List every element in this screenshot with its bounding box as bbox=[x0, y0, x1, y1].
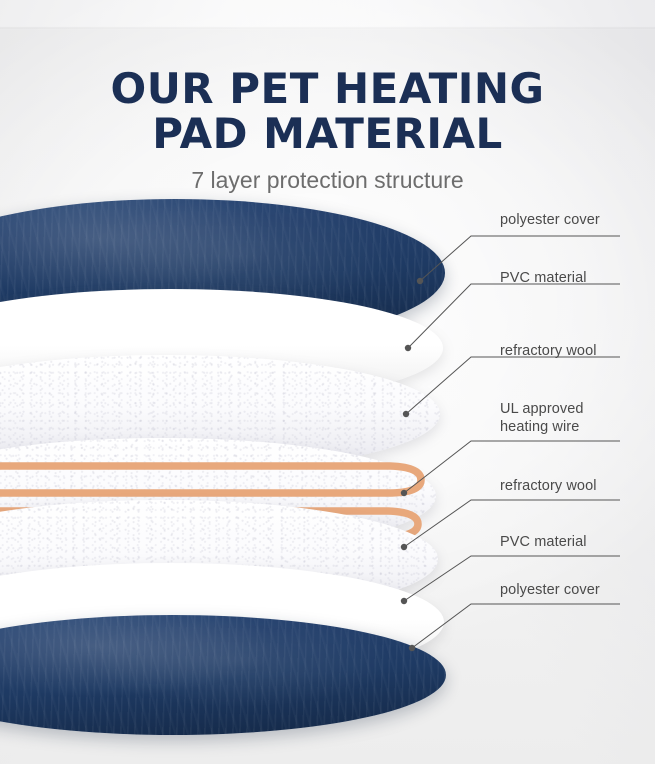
callout-label-polyester-cover-top: polyester cover bbox=[500, 211, 600, 229]
infographic-page: OUR PET HEATING PAD MATERIAL 7 layer pro… bbox=[0, 0, 655, 764]
leader-lines bbox=[0, 0, 655, 764]
leader-dot-1 bbox=[417, 278, 423, 284]
callout-label-pvc-bottom: PVC material bbox=[500, 533, 587, 551]
leader-dot-2 bbox=[405, 345, 411, 351]
leader-line-2 bbox=[408, 284, 620, 348]
callout-label-pvc-top: PVC material bbox=[500, 269, 587, 287]
callout-label-refractory-wool-bottom: refractory wool bbox=[500, 477, 597, 495]
leader-dot-3 bbox=[403, 411, 409, 417]
leader-line-7 bbox=[412, 604, 620, 648]
callout-group: polyester cover PVC material refractory … bbox=[0, 0, 655, 764]
leader-dot-7 bbox=[409, 645, 415, 651]
callout-label-polyester-cover-bottom: polyester cover bbox=[500, 581, 600, 599]
leader-dot-4 bbox=[401, 490, 407, 496]
leader-dots bbox=[401, 278, 423, 651]
leader-dot-5 bbox=[401, 544, 407, 550]
leader-dot-6 bbox=[401, 598, 407, 604]
callout-label-refractory-wool-top: refractory wool bbox=[500, 342, 597, 360]
callout-label-ul-heating-wire: UL approved heating wire bbox=[500, 400, 584, 436]
